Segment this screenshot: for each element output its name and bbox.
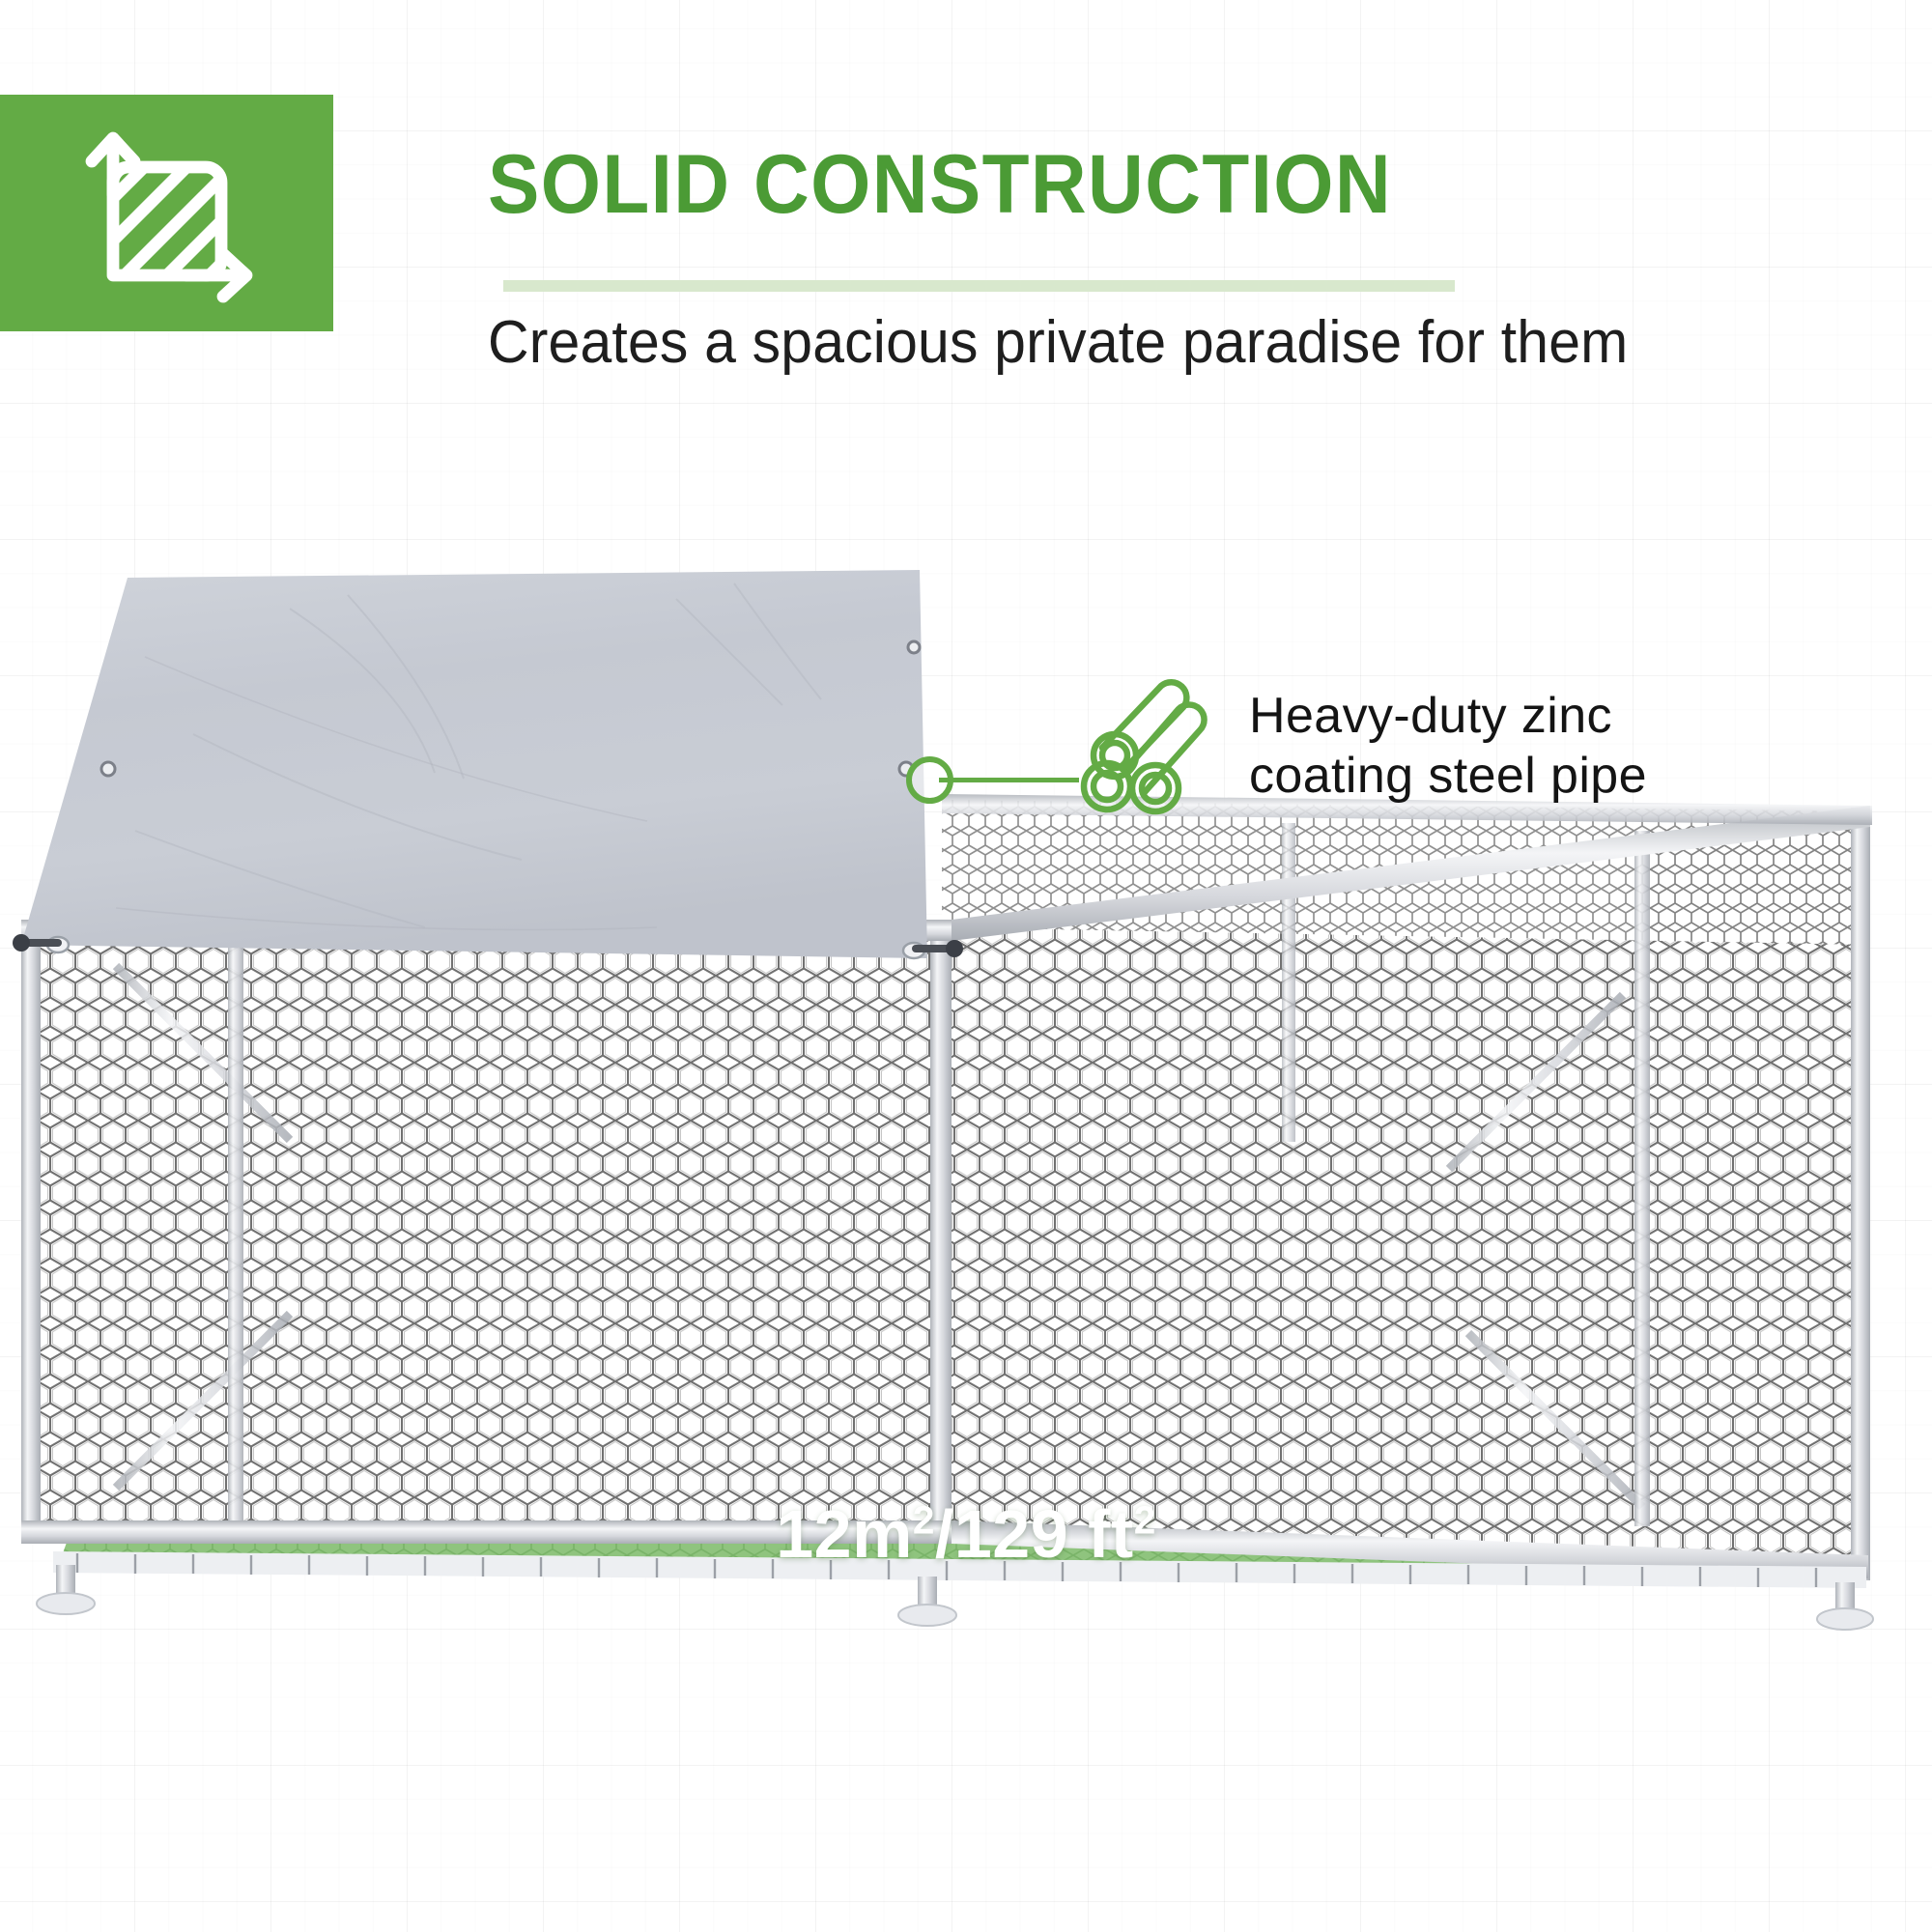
grey-tarp-roof-cover	[13, 570, 963, 958]
callout-line-1: Heavy-duty zinc	[1249, 686, 1867, 746]
infographic-canvas: SOLID CONSTRUCTION Creates a spacious pr…	[0, 0, 1932, 1932]
callout-label: Heavy-duty zinc coating steel pipe	[1249, 686, 1867, 807]
callout-line-2: coating steel pipe	[1249, 746, 1867, 806]
steel-pipes-icon	[1072, 676, 1227, 821]
title-underline-rule	[503, 280, 1455, 292]
page-subtitle: Creates a spacious private paradise for …	[488, 309, 1828, 376]
callout-leader-line	[939, 778, 1079, 782]
area-dimensions-icon-block	[0, 95, 333, 331]
page-title: SOLID CONSTRUCTION	[488, 143, 1764, 226]
area-dimensions-icon	[71, 117, 264, 310]
